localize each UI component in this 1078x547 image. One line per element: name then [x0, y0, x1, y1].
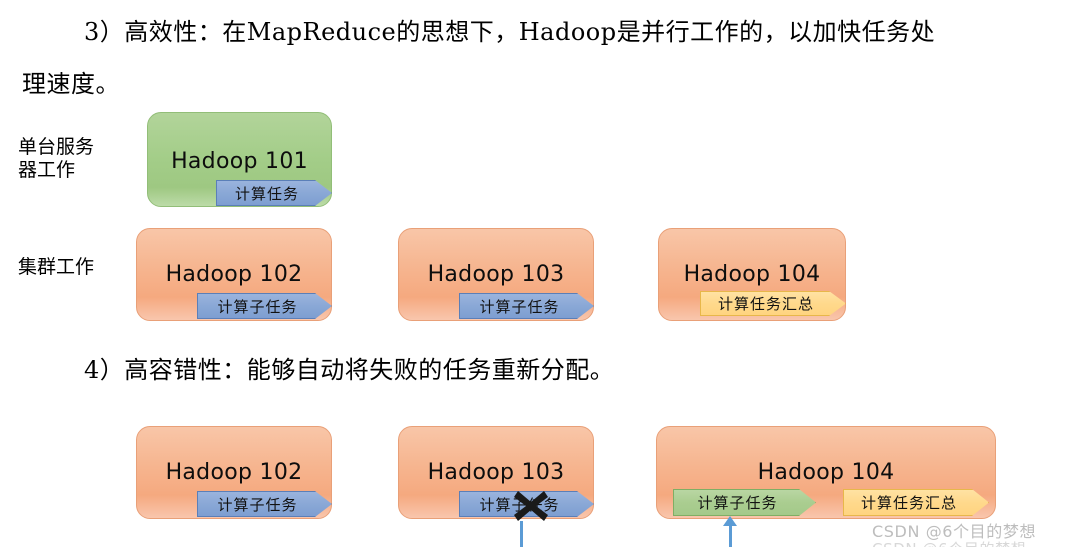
- ribbon-hadoop104-summary-label: 计算任务汇总: [718, 293, 814, 314]
- ribbon-hadoop103-subtask-label: 计算子任务: [479, 296, 559, 317]
- csdn-watermark-ghost: CSDN @6个目的梦想: [872, 538, 1026, 547]
- row-label-cluster: 集群工作: [18, 256, 130, 279]
- ribbon-hadoop104-summary[interactable]: 计算任务汇总: [700, 291, 846, 316]
- ribbon-hadoop101-task[interactable]: 计算任务: [216, 180, 332, 206]
- node-hadoop102-bottom-title: Hadoop 102: [137, 460, 331, 485]
- paragraph-item3-line1: 3）高效性：在MapReduce的思想下，Hadoop是并行工作的，以加快任务处: [84, 20, 935, 44]
- connector-failed-task-down: [520, 521, 523, 547]
- ribbon-hadoop104-bottom-subtask-label: 计算子任务: [697, 492, 777, 513]
- node-hadoop103-bottom-title: Hadoop 103: [399, 460, 593, 485]
- ribbon-hadoop104-bottom-summary-label: 计算任务汇总: [861, 492, 957, 513]
- ribbon-hadoop101-task-label: 计算任务: [235, 183, 299, 204]
- connector-reassign-line: [729, 524, 732, 547]
- node-hadoop101-title: Hadoop 101: [148, 149, 331, 174]
- ribbon-hadoop104-bottom-summary[interactable]: 计算任务汇总: [843, 489, 989, 516]
- paragraph-item4-line1: 4）高容错性：能够自动将失败的任务重新分配。: [84, 358, 614, 382]
- ribbon-hadoop103-bottom-subtask[interactable]: 计算子任务: [459, 491, 594, 517]
- ribbon-hadoop102-bottom-subtask-label: 计算子任务: [217, 494, 297, 515]
- ribbon-hadoop103-subtask[interactable]: 计算子任务: [459, 293, 594, 319]
- connector-reassign-arrowhead: [723, 516, 737, 526]
- ribbon-hadoop104-bottom-subtask[interactable]: 计算子任务: [673, 489, 816, 516]
- node-hadoop102-title: Hadoop 102: [137, 262, 331, 287]
- ribbon-hadoop103-bottom-subtask-label: 计算子任务: [479, 494, 559, 515]
- node-hadoop104-bottom-title: Hadoop 104: [657, 460, 995, 485]
- ribbon-hadoop102-subtask-label: 计算子任务: [217, 296, 297, 317]
- paragraph-item3-line2: 理速度。: [22, 72, 120, 96]
- row-label-single-server: 单台服务器工作: [18, 136, 130, 182]
- node-hadoop104-title: Hadoop 104: [659, 262, 845, 287]
- node-hadoop103-title: Hadoop 103: [399, 262, 593, 287]
- ribbon-hadoop102-bottom-subtask[interactable]: 计算子任务: [197, 491, 332, 517]
- ribbon-hadoop102-subtask[interactable]: 计算子任务: [197, 293, 332, 319]
